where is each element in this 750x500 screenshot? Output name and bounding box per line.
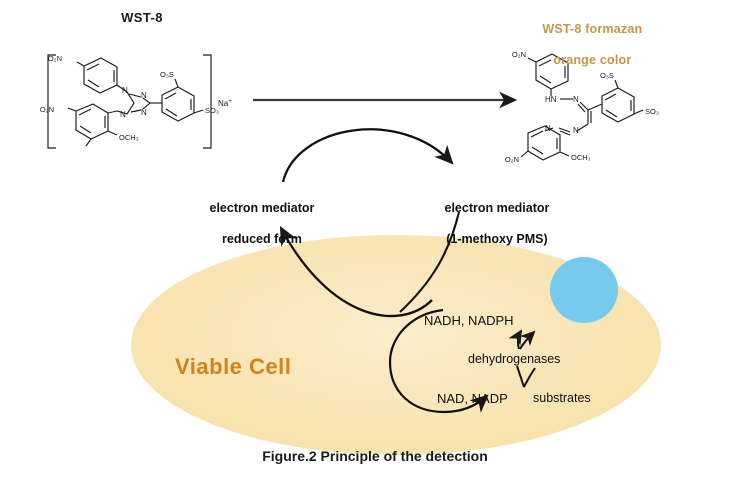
- bracket-right: [203, 55, 211, 148]
- mediator-right-line2: (1-methoxy PMS): [446, 232, 547, 246]
- label-f-sulfonate-right: SO₃: [645, 107, 659, 116]
- mediator-left-line2: reduced form: [222, 232, 302, 246]
- electron-mediator-pms: electron mediator (1-methoxy PMS): [420, 185, 560, 263]
- nadh-nadph-label: NADH, NADPH: [424, 313, 514, 329]
- label-counterion: Na+: [218, 99, 232, 108]
- label-f-n-c: N: [545, 124, 551, 133]
- substrates-label: substrates: [533, 391, 591, 407]
- label-sulfonate-top: O₃S: [160, 70, 174, 79]
- mediator-upper-arc: [283, 129, 452, 182]
- label-n3: N: [141, 108, 147, 117]
- tetrazolium-ring: [108, 85, 162, 114]
- formazan-title: WST-8 formazan orange color: [520, 6, 650, 84]
- label-n1: N: [122, 86, 128, 95]
- dehydrogenases-label: dehydrogenases: [468, 352, 560, 368]
- nitrophenyl-ring-top: [77, 58, 117, 93]
- disulfonate-ring: [162, 79, 203, 121]
- mediator-left-line1: electron mediator: [210, 201, 315, 215]
- label-f-nitro-bottom: O₂N: [505, 155, 519, 164]
- figure-caption: Figure.2 Principle of the detection: [0, 448, 750, 466]
- viable-cell-label: Viable Cell: [175, 353, 291, 381]
- label-nitro-bottom: O₂N: [40, 105, 54, 114]
- methoxy-nitrophenyl-ring: [68, 104, 117, 146]
- figure-principle-of-detection: O₂N O₂N OCH₃ O₃S SO₃ N N N N Na+: [0, 0, 750, 500]
- wst8-title: WST-8: [82, 10, 202, 26]
- mediator-right-line1: electron mediator: [445, 201, 550, 215]
- label-n2: N: [141, 91, 147, 100]
- bracket-left: [48, 55, 56, 148]
- formazan-title-line2: orange color: [553, 53, 631, 67]
- label-nitro-top: O₂N: [48, 54, 62, 63]
- label-hydrazone: HN: [545, 95, 557, 104]
- label-sulfonate-right: SO₃: [205, 106, 219, 115]
- wst8-labels: O₂N O₂N OCH₃ O₃S SO₃ N N N N Na+: [40, 54, 232, 142]
- formazan-title-line1: WST-8 formazan: [542, 22, 642, 36]
- label-f-n-b: N: [573, 126, 579, 135]
- nucleus: [550, 257, 618, 323]
- nad-nadp-label: NAD, NADP: [437, 391, 508, 407]
- label-f-n-a: N: [573, 95, 579, 104]
- electron-mediator-reduced: electron mediator reduced form: [190, 185, 320, 263]
- label-methoxy: OCH₃: [119, 133, 139, 142]
- label-n4: N: [120, 110, 126, 119]
- formazan-disulfonate-ring: [602, 80, 643, 122]
- label-f-methoxy: OCH₃: [571, 153, 591, 162]
